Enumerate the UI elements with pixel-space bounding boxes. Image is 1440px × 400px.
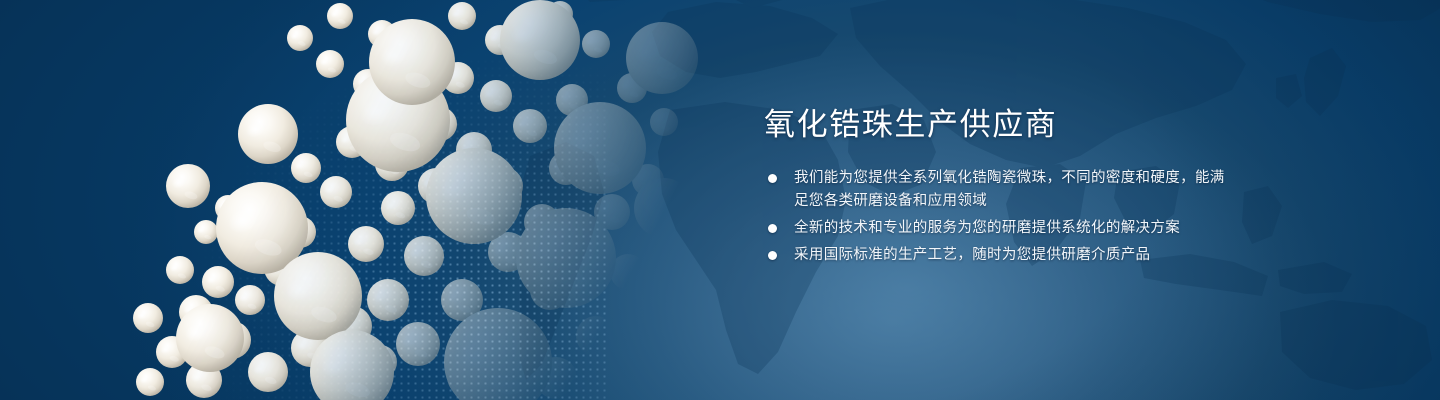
banner-copy: 氧化锆珠生产供应商 我们能为您提供全系列氧化锆陶瓷微珠，不同的密度和硬度，能满足… (764, 105, 1234, 267)
banner-bullet-list: 我们能为您提供全系列氧化锆陶瓷微珠，不同的密度和硬度，能满足您各类研磨设备和应用… (764, 167, 1234, 267)
bullet-text-1: 我们能为您提供全系列氧化锆陶瓷微珠，不同的密度和硬度，能满足您各类研磨设备和应用… (794, 170, 1225, 209)
bullet-item-3: 采用国际标准的生产工艺，随时为您提供研磨介质产品 (764, 244, 1234, 267)
bullet-dot-icon (768, 174, 777, 183)
bullet-dot-icon (768, 251, 777, 260)
banner-headline: 氧化锆珠生产供应商 (764, 105, 1234, 145)
bullet-item-2: 全新的技术和专业的服务为您的研磨提供系统化的解决方案 (764, 217, 1234, 240)
zirconia-beads-image (0, 0, 760, 400)
bullet-dot-icon (768, 224, 777, 233)
bullet-text-2: 全新的技术和专业的服务为您的研磨提供系统化的解决方案 (794, 220, 1180, 236)
bullet-text-3: 采用国际标准的生产工艺，随时为您提供研磨介质产品 (794, 247, 1150, 263)
bullet-item-1: 我们能为您提供全系列氧化锆陶瓷微珠，不同的密度和硬度，能满足您各类研磨设备和应用… (764, 167, 1234, 213)
hero-banner: 氧化锆珠生产供应商 我们能为您提供全系列氧化锆陶瓷微珠，不同的密度和硬度，能满足… (0, 0, 1440, 400)
